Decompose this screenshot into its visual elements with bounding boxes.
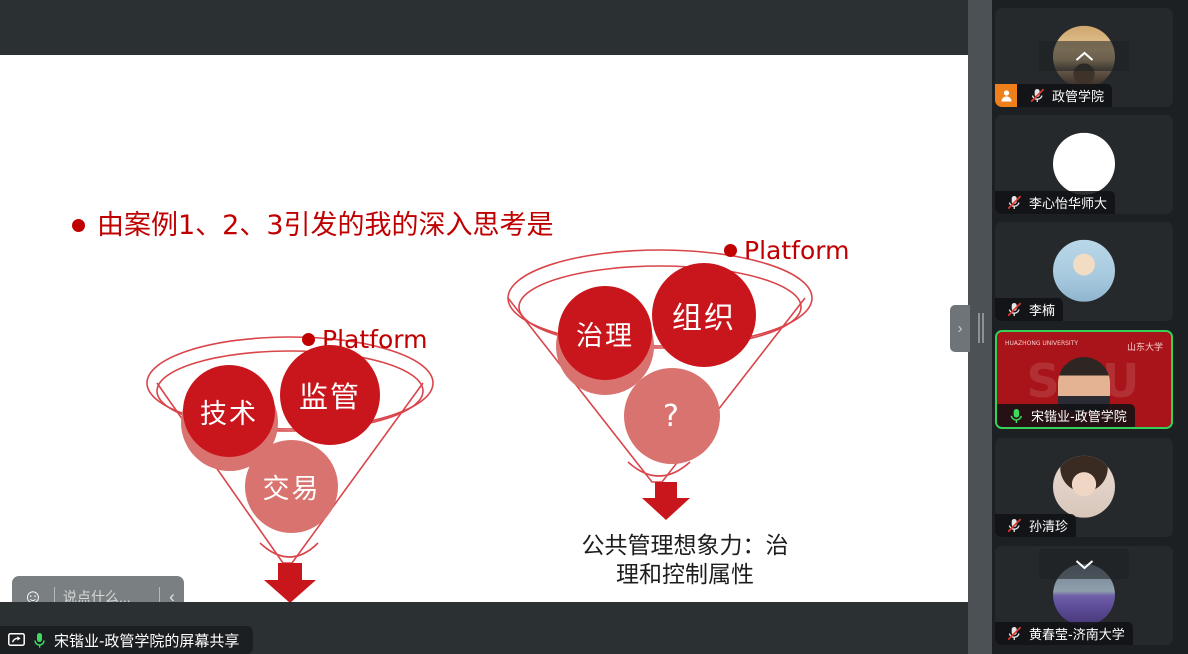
right-bubble-unknown-label: ? (663, 399, 681, 434)
emoji-smiley-icon[interactable]: ☺ (12, 586, 54, 603)
participant-tile-5[interactable]: 黄春莹-济南大学 (995, 546, 1173, 645)
participant-name-4: 孙清珍 (1029, 516, 1068, 535)
chevron-up-icon[interactable] (1039, 41, 1129, 71)
participant-video-person (1058, 357, 1110, 411)
collapse-participants-panel-button[interactable]: › (950, 305, 970, 352)
microphone-muted-icon (1004, 302, 1024, 317)
right-bubble-governance-label: 治理 (576, 314, 634, 353)
avatar (1053, 239, 1115, 301)
participant-namebar-1: 李心怡华师大 (995, 191, 1115, 214)
right-down-arrow-icon (638, 482, 694, 520)
participant-name-5: 黄春莹-济南大学 (1029, 624, 1125, 643)
left-down-arrow-icon (260, 563, 320, 602)
participant-namebar-2: 李楠 (995, 298, 1063, 321)
left-bubble-transaction-label: 交易 (263, 467, 321, 506)
participant-tile-4[interactable]: 孙清珍 (995, 438, 1173, 537)
shared-screen-region[interactable]: 由案例1、2、3引发的我的深入思考是 Platform 技术 监管 (0, 0, 968, 654)
chevron-right-icon: › (958, 320, 963, 337)
chat-placeholder-text[interactable]: 说点什么... (55, 587, 159, 602)
right-bubble-organization: 组织 (652, 263, 756, 367)
participant-namebar-4: 孙清珍 (995, 514, 1076, 537)
slide-heading-text: 由案例1、2、3引发的我的深入思考是 (97, 212, 554, 239)
left-bubble-tech-label: 技术 (200, 392, 258, 431)
participant-tile-2[interactable]: 李楠 (995, 222, 1173, 321)
drag-handle-grip[interactable] (978, 313, 984, 343)
participant-name-3: 宋锴业-政管学院 (1031, 406, 1127, 425)
right-bubble-governance: 治理 (558, 286, 652, 380)
right-funnel-graphic: Platform 治理 组织 ? (500, 250, 820, 512)
left-funnel-graphic: Platform 技术 监管 交易 (140, 335, 440, 595)
participant-tile-0[interactable]: 政管学院 (995, 8, 1173, 107)
left-bubble-regulation-label: 监管 (299, 374, 361, 416)
participant-namebar-3: 宋锴业-政管学院 (997, 404, 1135, 427)
participant-name-0: 政管学院 (1052, 86, 1104, 105)
left-bubble-transaction: 交易 (245, 440, 338, 533)
participant-tile-3[interactable]: HUAZHONG UNIVERSITY 山东大学 SDU 宋锴业-政管学院 (995, 330, 1173, 429)
chevron-left-icon[interactable]: ‹ (160, 587, 184, 602)
screen-share-icon (8, 633, 25, 648)
platform-dot-icon (302, 333, 315, 346)
participant-name-1: 李心怡华师大 (1029, 193, 1107, 212)
screen-share-owner-label: 宋锴业-政管学院的屏幕共享 (54, 630, 239, 651)
right-funnel-caption: 公共管理想象力：治 理和控制属性 (540, 532, 830, 591)
platform-dot-icon (724, 244, 737, 257)
backdrop-logo-right: 山东大学 (1127, 340, 1163, 352)
participant-namebar-0: 政管学院 (995, 84, 1112, 107)
right-bubble-organization-label: 组织 (672, 293, 736, 337)
backdrop-logo-left: HUAZHONG UNIVERSITY (1005, 340, 1078, 352)
microphone-muted-icon (1004, 626, 1024, 641)
chevron-down-icon[interactable] (1039, 549, 1129, 579)
right-bubble-unknown: ? (624, 368, 720, 464)
participant-namebar-5: 黄春莹-济南大学 (995, 622, 1133, 645)
chat-input-overlay[interactable]: ☺ 说点什么... ‹ (12, 576, 184, 602)
microphone-muted-icon (1027, 88, 1047, 103)
left-bubble-tech: 技术 (183, 365, 275, 457)
right-platform-tag: Platform (724, 236, 849, 265)
host-person-icon (995, 84, 1017, 107)
bullet-dot-icon (72, 219, 85, 232)
avatar (1053, 132, 1115, 194)
left-bubble-regulation: 监管 (280, 345, 380, 445)
avatar (1053, 455, 1115, 517)
participant-video-rail[interactable]: 政管学院 李心怡华师大 (992, 0, 1188, 654)
screen-share-status-bar: 宋锴业-政管学院的屏幕共享 (0, 626, 253, 654)
participant-tile-1[interactable]: 李心怡华师大 (995, 115, 1173, 214)
presentation-slide: 由案例1、2、3引发的我的深入思考是 Platform 技术 监管 (0, 55, 968, 602)
slide-heading: 由案例1、2、3引发的我的深入思考是 (72, 212, 554, 239)
microphone-muted-icon (1004, 195, 1024, 210)
microphone-muted-icon (1004, 518, 1024, 533)
microphone-on-icon (33, 632, 46, 649)
participant-name-2: 李楠 (1029, 300, 1055, 319)
right-platform-label: Platform (744, 236, 849, 265)
microphone-on-icon (1006, 408, 1026, 424)
share-top-letterbox (0, 0, 968, 55)
